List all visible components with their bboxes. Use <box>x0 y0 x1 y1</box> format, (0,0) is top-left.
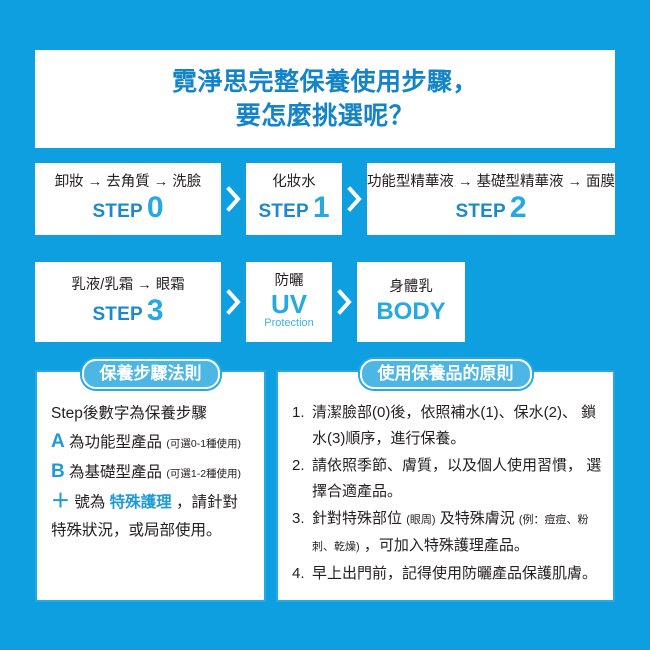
rule-4-text-before: 號為 <box>74 494 105 511</box>
step-3-label: STEP 3 <box>92 297 163 326</box>
principle-item-3: 3. 針對特殊部位 (眼周) 及特殊膚況 (例：痘痘、粉刺、乾燥) ，可加入特殊… <box>292 506 603 560</box>
step-2-label: STEP 2 <box>455 194 526 223</box>
step-body-products: 身體乳 <box>389 278 433 296</box>
rule-item-2: A 為功能型產品 (可選0-1種使用) <box>51 428 254 458</box>
chevron-right-icon-4 <box>332 262 357 342</box>
step-box-3: 乳液/乳霜 → 眼霜 STEP 3 <box>35 262 221 342</box>
steps-row-1: 卸妝 → 去角質 → 洗臉 STEP 0 化妝水 STEP 1 <box>35 163 615 235</box>
usage-principles-list: 1. 清潔臉部(0)後，依照補水(1)、保水(2)、 鎖水(3)順序，進行保養。… <box>292 400 603 587</box>
step-0-products: 卸妝 → 去角質 → 洗臉 <box>55 173 202 191</box>
principle-item-4: 4. 早上出門前，記得使用防曬產品保護肌膚。 <box>292 561 603 587</box>
rule-2-note: (可選0-1種使用) <box>166 438 241 450</box>
principle-3-line-2b: ，可加入特殊護理產品。 <box>364 537 529 554</box>
principle-3-number: 3. <box>292 506 305 532</box>
principle-2-line-1: 請依照季節、膚質，以及個人使用習慣， <box>312 457 582 474</box>
principle-item-2: 2. 請依照季節、膚質，以及個人使用習慣， 選擇合適產品。 <box>292 453 603 505</box>
rule-4-text-wrap: 特殊狀況，或局部使用。 <box>51 522 222 539</box>
step-box-body: 身體乳 BODY <box>357 262 465 342</box>
rule-item-3: B 為基礎型產品 (可選1-2種使用) <box>51 458 254 488</box>
step-uv-products: 防曬 <box>275 272 304 290</box>
step-2-products: 功能型精華液 → 基礎型精華液 → 面膜 <box>367 173 615 191</box>
step-box-2: 功能型精華液 → 基礎型精華液 → 面膜 STEP 2 <box>367 163 615 235</box>
principle-2-number: 2. <box>292 453 305 479</box>
rule-3-text: 為基礎型產品 <box>69 464 162 481</box>
step-2-number: 2 <box>510 194 527 222</box>
rule-item-4: ＋ 號為 特殊護理 ，請針對 特殊狀況，或局部使用。 <box>51 488 254 545</box>
rule-4-text-after: ，請針對 <box>176 494 238 511</box>
step-3-products: 乳液/乳霜 → 眼霜 <box>71 276 185 294</box>
steps-area: 卸妝 → 去角質 → 洗臉 STEP 0 化妝水 STEP 1 <box>35 163 615 342</box>
principle-3-line-1-note: (眼周) <box>406 514 435 526</box>
principle-1-number: 1. <box>292 400 305 426</box>
step-3-number: 3 <box>147 297 164 325</box>
chevron-right-icon-3 <box>221 262 246 342</box>
step-0-label: STEP 0 <box>92 194 163 223</box>
step-3-word: STEP <box>92 304 142 326</box>
principle-3-line-1a: 針對特殊部位 <box>312 510 402 527</box>
page-title: 霓淨思完整保養使用步驟， 要怎麼挑選呢？ <box>35 50 615 148</box>
infographic-page: 霓淨思完整保養使用步驟， 要怎麼挑選呢？ 卸妝 → 去角質 → 洗臉 STEP … <box>0 0 650 650</box>
panel-usage-principles: 使用保養品的原則 1. 清潔臉部(0)後，依照補水(1)、保水(2)、 鎖水(3… <box>276 370 615 602</box>
page-title-line-2: 要怎麼挑選呢？ <box>236 99 415 133</box>
bottom-panels: 保養步驟法則 Step後數字為保養步驟 A 為功能型產品 (可選0-1種使用) … <box>35 370 615 602</box>
rule-4-code: ＋ <box>51 491 70 512</box>
rule-item-1: Step後數字為保養步驟 <box>51 400 254 428</box>
panel-care-step-rules-title: 保養步驟法則 <box>82 359 220 389</box>
panel-care-step-rules: 保養步驟法則 Step後數字為保養步驟 A 為功能型產品 (可選0-1種使用) … <box>35 370 266 602</box>
step-box-1: 化妝水 STEP 1 <box>246 163 342 235</box>
step-box-0: 卸妝 → 去角質 → 洗臉 STEP 0 <box>35 163 221 235</box>
principle-3-line-1b: 及特殊膚況 <box>440 510 515 527</box>
rule-2-text: 為功能型產品 <box>69 434 162 451</box>
rule-4-highlight: 特殊護理 <box>110 494 172 511</box>
steps-row-2: 乳液/乳霜 → 眼霜 STEP 3 防曬 UV Protection <box>35 262 615 342</box>
care-step-rules-list: Step後數字為保養步驟 A 為功能型產品 (可選0-1種使用) B 為基礎型產… <box>51 400 254 545</box>
step-1-number: 1 <box>313 194 330 222</box>
chevron-right-icon-1 <box>221 163 246 235</box>
step-0-number: 0 <box>147 194 164 222</box>
rule-2-code: A <box>51 431 65 452</box>
principle-1-line-1: 清潔臉部(0)後，依照補水(1)、保水(2)、 <box>312 404 577 421</box>
step-uv-word: UV <box>271 291 307 317</box>
step-1-products: 化妝水 <box>272 173 316 191</box>
chevron-right-icon-2 <box>342 163 367 235</box>
step-1-label: STEP 1 <box>258 194 329 223</box>
rule-3-code: B <box>51 461 65 482</box>
rule-3-note: (可選1-2種使用) <box>166 468 241 480</box>
rule-1-text: Step後數字為保養步驟 <box>51 405 207 422</box>
panel-usage-principles-title: 使用保養品的原則 <box>360 359 532 389</box>
principle-4-number: 4. <box>292 561 305 587</box>
step-body-word: BODY <box>376 299 445 325</box>
principle-item-1: 1. 清潔臉部(0)後，依照補水(1)、保水(2)、 鎖水(3)順序，進行保養。 <box>292 400 603 452</box>
step-0-word: STEP <box>92 201 142 223</box>
step-1-word: STEP <box>258 201 308 223</box>
step-2-word: STEP <box>455 201 505 223</box>
step-uv-subtitle: Protection <box>264 317 314 330</box>
step-box-uv: 防曬 UV Protection <box>246 262 332 342</box>
principle-4-line-1: 早上出門前，記得使用防曬產品保護肌膚。 <box>312 565 597 582</box>
page-title-line-1: 霓淨思完整保養使用步驟， <box>172 65 478 99</box>
